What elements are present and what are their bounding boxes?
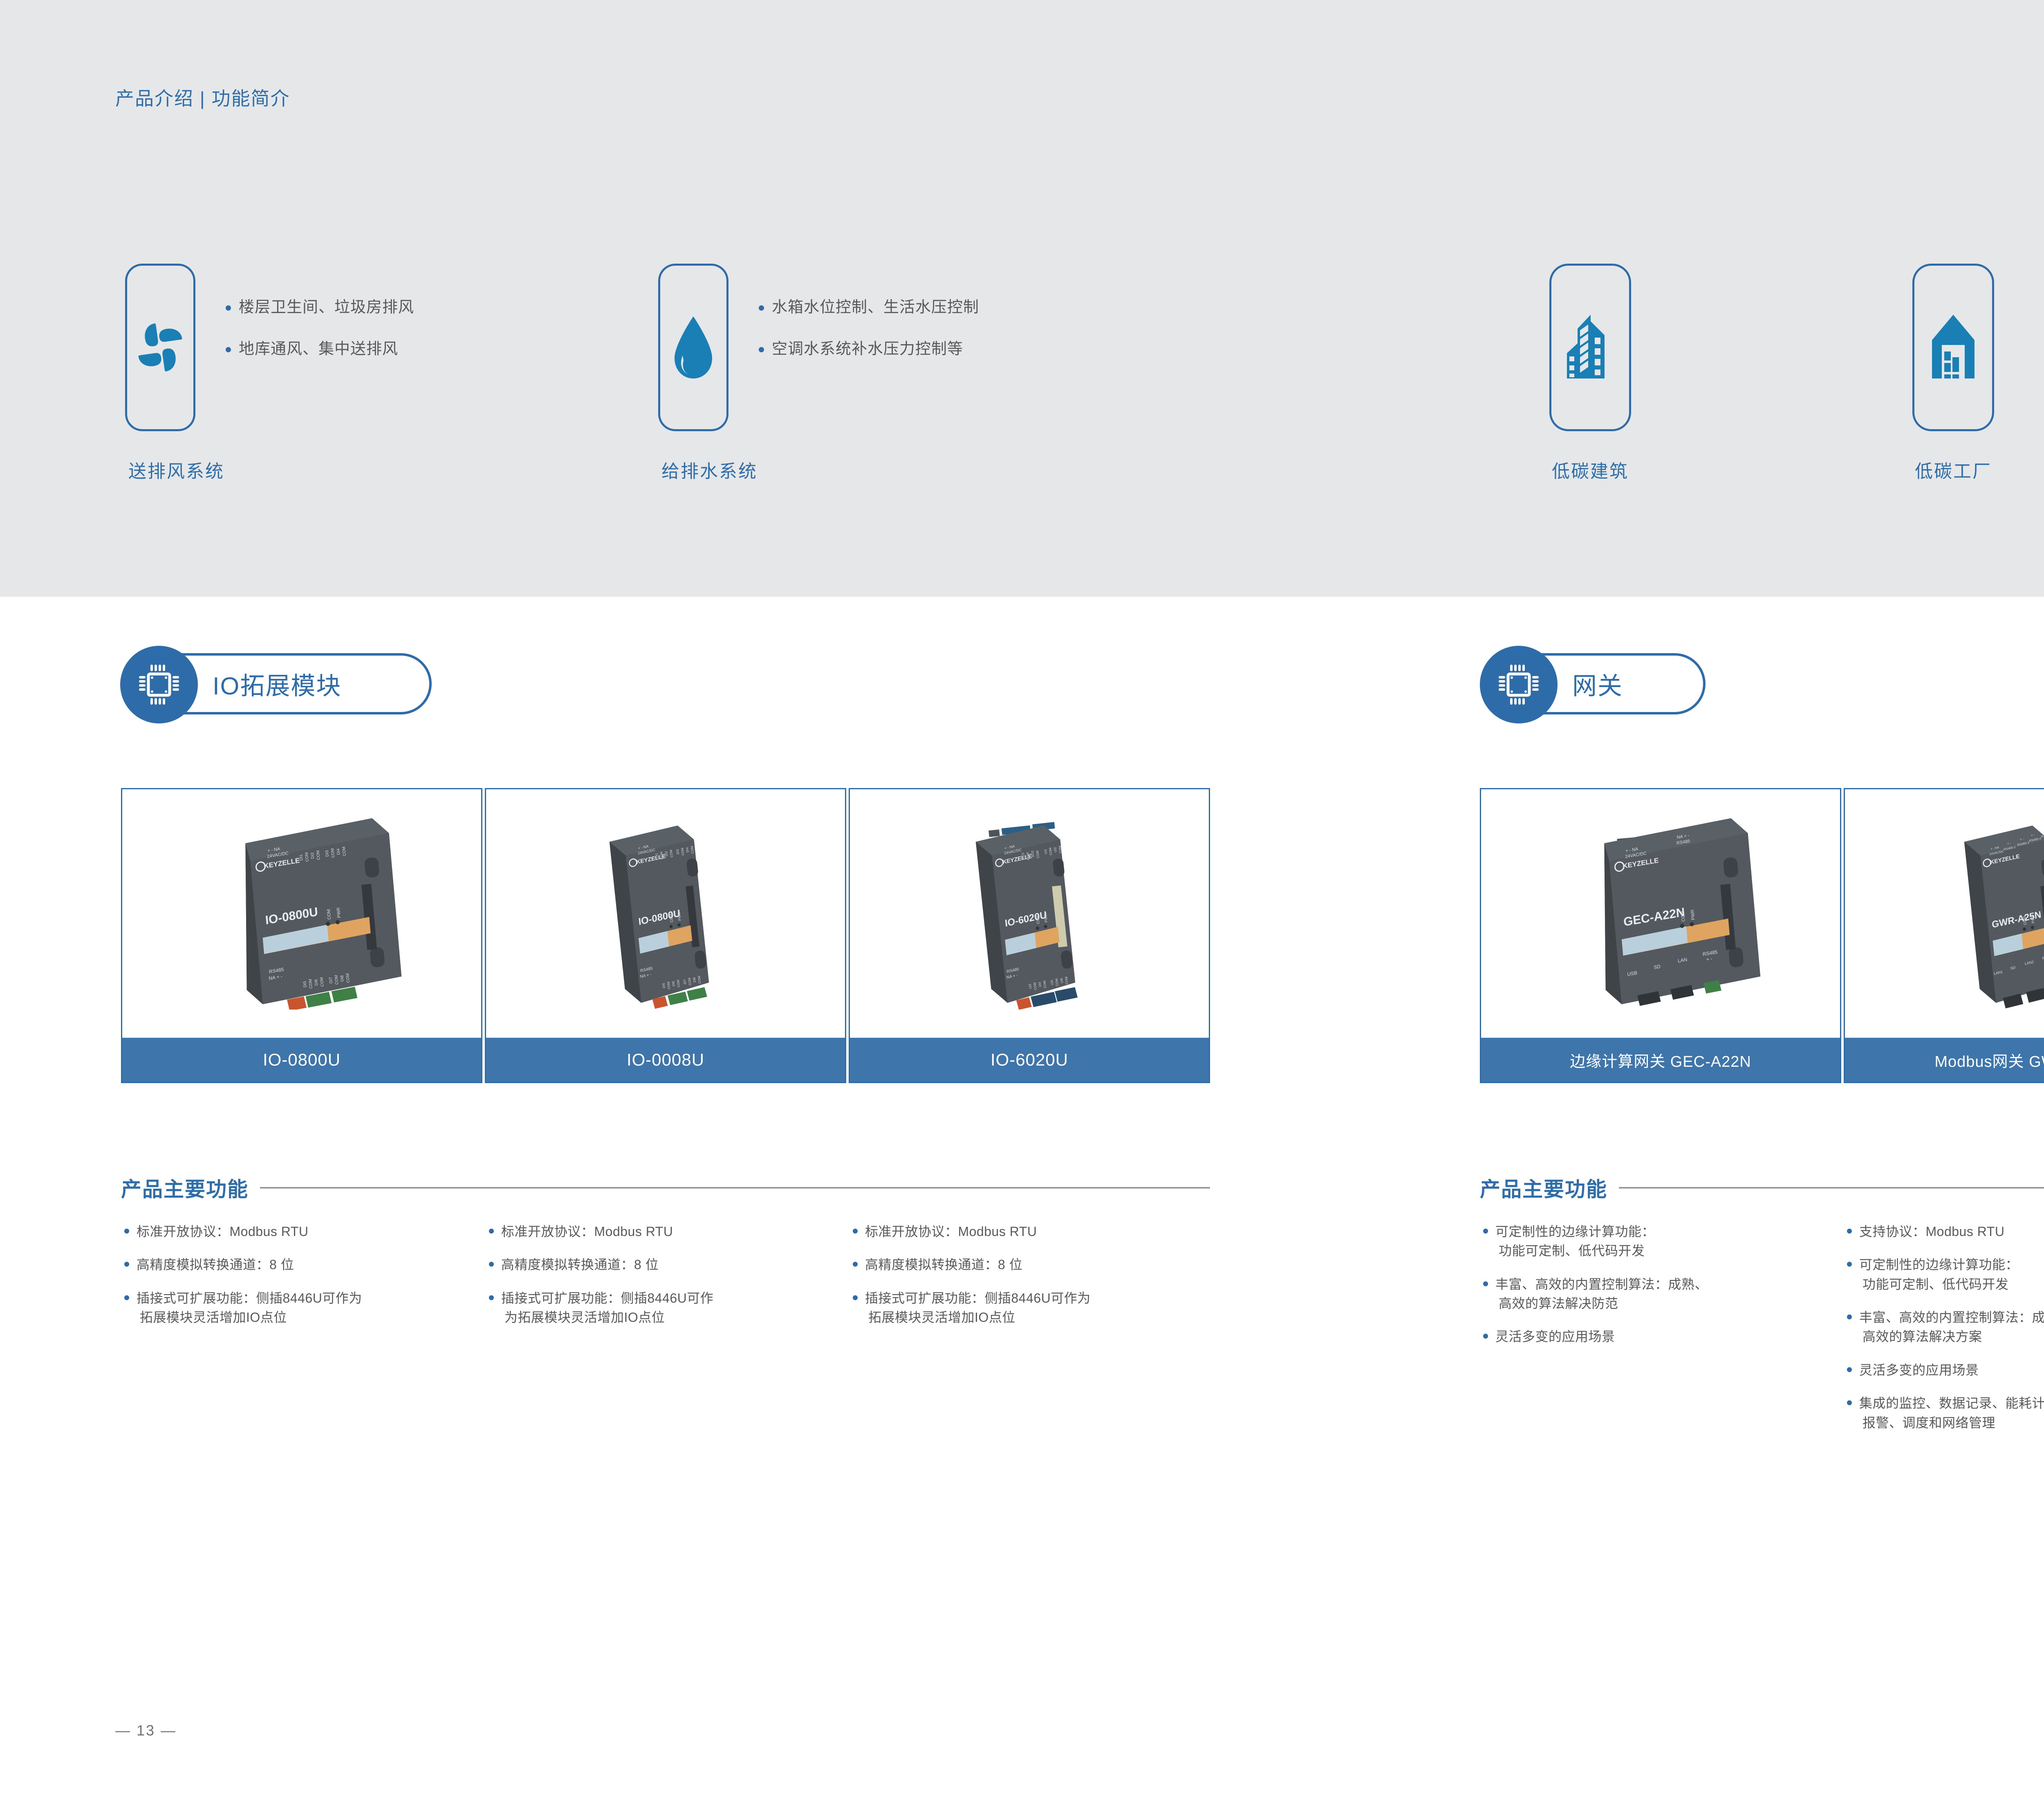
svg-text:+ -: + - — [1706, 956, 1712, 962]
list-item: 插接式可扩展功能：侧插8446U可作为拓展模块灵活增加IO点位 — [851, 1289, 1211, 1328]
list-item: 空调水系统补水压力控制等 — [756, 341, 979, 357]
list-item: 高精度模拟转换通道：8 位 — [123, 1255, 482, 1274]
product-caption: IO-0800U — [122, 1038, 481, 1082]
scenario-water-label: 给排水系统 — [661, 457, 758, 483]
scenario-ventilation-label: 送排风系统 — [128, 457, 224, 483]
factory-icon-tile — [1912, 264, 1994, 431]
svg-text:UI5: UI5 — [1050, 979, 1054, 985]
svg-text:COM: COM — [308, 979, 314, 989]
svg-text:DI2: DI2 — [310, 852, 315, 859]
svg-text:SD: SD — [1654, 963, 1661, 970]
features-heading-io: 产品主要功能 — [121, 1173, 1210, 1202]
list-item: 可定制性的边缘计算功能：功能可定制、低代码开发 — [1845, 1255, 2044, 1294]
product-image: IO-0800U KEYZELLE + - NA 24VAC/DC DI1 CO… — [486, 789, 845, 1038]
lowcarbon-building: 低碳建筑 — [1549, 264, 1631, 483]
product-caption: 边缘计算网关 GEC-A22N — [1481, 1038, 1840, 1082]
product-image: IO-6020U KEYZELLE + - NA 24VAC/DC AO1 CO… — [850, 789, 1209, 1038]
office-building-icon — [1565, 314, 1615, 381]
svg-text:AO2: AO2 — [1031, 850, 1035, 857]
features-title-gateway: 产品主要功能 — [1480, 1173, 1607, 1202]
lowcarbon-factory-label: 低碳工厂 — [1912, 457, 1994, 483]
fan-icon-tile — [125, 264, 195, 431]
feature-column: 可定制性的边缘计算功能：功能可定制、低代码开发 丰富、高效的内置控制算法：成熟、… — [1481, 1222, 1829, 1361]
product-image: GWR-A25N KEYZELLE + - NA + - + - + - + -… — [1845, 789, 2044, 1038]
section-header-io: IO拓展模块 — [120, 646, 459, 723]
svg-text:DI7: DI7 — [329, 977, 334, 984]
scenario-water: 水箱水位控制、生活水压控制 空调水系统补水压力控制等 给排水系统 — [658, 264, 1230, 493]
product-image: GEC-A22N KEYZELLE + - NA 24VAC/DC NA + -… — [1481, 789, 1840, 1038]
section-header-gateway: 网关 — [1480, 646, 1733, 723]
svg-text:AO1: AO1 — [1021, 852, 1025, 859]
list-item: 丰富、高效的内置控制算法：成熟、高效的算法解决方案 — [1845, 1308, 2044, 1347]
svg-text:COM: COM — [345, 973, 351, 983]
list-item: 可定制性的边缘计算功能：功能可定制、低代码开发 — [1481, 1222, 1829, 1261]
svg-text:COM: COM — [1058, 846, 1062, 854]
svg-text:DI1: DI1 — [299, 854, 304, 861]
features-heading-gateway: 产品主要功能 — [1480, 1173, 2044, 1202]
svg-text:COM: COM — [342, 846, 347, 856]
svg-text:DI5: DI5 — [662, 983, 666, 988]
list-item: 灵活多变的应用场景 — [1481, 1327, 1829, 1346]
svg-text:UI1: UI1 — [1044, 849, 1048, 854]
svg-text:DI8: DI8 — [693, 977, 697, 983]
product-card[interactable]: GEC-A22N KEYZELLE + - NA 24VAC/DC NA + -… — [1480, 788, 1841, 1083]
list-item: 地库通风、集中送排风 — [223, 341, 414, 357]
water-drop-icon — [670, 315, 716, 380]
product-caption: IO-0008U — [486, 1038, 845, 1082]
section-title-gateway: 网关 — [1572, 666, 1623, 702]
factory-icon — [1930, 314, 1977, 381]
list-item: 标准开放协议：Modbus RTU — [851, 1222, 1211, 1241]
list-item: 标准开放协议：Modbus RTU — [487, 1222, 847, 1241]
product-image: IO-0800U KEYZELLE + - NA 24VAC/DC DI1 CO… — [122, 789, 481, 1038]
scenario-water-bullets: 水箱水位控制、生活水压控制 空调水系统补水压力控制等 — [756, 300, 979, 383]
features-title-io: 产品主要功能 — [121, 1173, 249, 1202]
svg-text:DI3: DI3 — [325, 850, 330, 857]
list-item: 标准开放协议：Modbus RTU — [123, 1222, 482, 1241]
svg-text:COM: COM — [334, 975, 339, 985]
page-number-left: — 13 — — [115, 1722, 177, 1739]
list-item: 灵活多变的应用场景 — [1845, 1361, 2044, 1380]
svg-text:COM: COM — [1681, 911, 1686, 922]
svg-text:COM: COM — [326, 909, 332, 920]
brochure-page: 产品介绍 | 功能简介 产品介绍 | 功能简介 — [0, 0, 2044, 1798]
feature-column: 标准开放协议：Modbus RTU 高精度模拟转换通道：8 位 插接式可扩展功能… — [487, 1222, 847, 1341]
svg-text:DI2: DI2 — [664, 851, 668, 857]
product-caption: IO-6020U — [850, 1038, 1209, 1082]
section-title-io: IO拓展模块 — [213, 666, 341, 702]
svg-text:PWR: PWR — [336, 907, 342, 918]
svg-text:COM: COM — [320, 977, 325, 987]
svg-text:UI3: UI3 — [1028, 983, 1032, 989]
list-item: 插接式可扩展功能：侧插8446U可作为拓展模块灵活增加IO点位 — [123, 1289, 482, 1328]
list-item: 丰富、高效的内置控制算法：成熟、高效的算法解决防范 — [1481, 1275, 1829, 1314]
product-card[interactable]: IO-6020U KEYZELLE + - NA 24VAC/DC AO1 CO… — [849, 788, 1210, 1083]
fan-icon — [135, 320, 186, 374]
scenario-ventilation: 楼层卫生间、垃圾房排风 地库通风、集中送排风 送排风系统 — [125, 264, 616, 493]
list-item: 插接式可扩展功能：侧插8446U可作为拓展模块灵活增加IO点位 — [487, 1289, 847, 1328]
svg-text:DI6: DI6 — [671, 981, 675, 987]
svg-text:DI5: DI5 — [303, 981, 307, 987]
product-caption: Modbus网关 GWR-A25N — [1845, 1038, 2044, 1082]
svg-text:UI4: UI4 — [1038, 982, 1042, 987]
chip-icon — [1480, 646, 1558, 723]
product-card[interactable]: IO-0800U KEYZELLE + - NA 24VAC/DC DI1 CO… — [121, 788, 482, 1083]
top-scenario-band: 产品介绍 | 功能简介 产品介绍 | 功能简介 — [0, 0, 2044, 597]
svg-text:DI4: DI4 — [685, 847, 689, 853]
list-item: 楼层卫生间、垃圾房排风 — [223, 300, 414, 315]
list-item: 水箱水位控制、生活水压控制 — [756, 300, 979, 315]
list-item: 支持协议：Modbus RTU — [1845, 1222, 2044, 1241]
water-drop-icon-tile — [658, 264, 728, 431]
list-item: 高精度模拟转换通道：8 位 — [851, 1255, 1211, 1274]
svg-text:DI6: DI6 — [314, 979, 319, 986]
feature-column: 标准开放协议：Modbus RTU 高精度模拟转换通道：8 位 插接式可扩展功能… — [123, 1222, 482, 1341]
svg-text:DI1: DI1 — [654, 853, 659, 858]
svg-text:DI4: DI4 — [336, 848, 341, 855]
divider-line — [1619, 1187, 2044, 1189]
svg-text:COM: COM — [305, 852, 310, 862]
feature-column: 支持协议：Modbus RTU 可定制性的边缘计算功能：功能可定制、低代码开发 … — [1845, 1222, 2044, 1446]
scenario-ventilation-bullets: 楼层卫生间、垃圾房排风 地库通风、集中送排风 — [223, 300, 414, 383]
svg-text:DI3: DI3 — [676, 849, 680, 855]
product-card[interactable]: IO-0800U KEYZELLE + - NA 24VAC/DC DI1 CO… — [485, 788, 846, 1083]
feature-column: 标准开放协议：Modbus RTU 高精度模拟转换通道：8 位 插接式可扩展功能… — [851, 1222, 1211, 1341]
list-item: 集成的监控、数据记录、能耗计量、报警、调度和网络管理 — [1845, 1394, 2044, 1433]
divider-line — [260, 1187, 1210, 1189]
product-card[interactable]: GWR-A25N KEYZELLE + - NA + - + - + - + -… — [1844, 788, 2044, 1083]
svg-text:COM: COM — [316, 850, 321, 860]
svg-text:UI2: UI2 — [1053, 847, 1057, 853]
svg-text:PWR: PWR — [1690, 909, 1696, 920]
office-building-icon-tile — [1549, 264, 1631, 431]
chip-icon — [120, 646, 198, 723]
lowcarbon-factory: 低碳工厂 — [1912, 264, 1994, 483]
svg-text:UI6: UI6 — [1060, 978, 1064, 983]
svg-text:+ -: + - — [2041, 829, 2044, 833]
lowcarbon-building-label: 低碳建筑 — [1549, 457, 1631, 483]
svg-text:COM: COM — [330, 848, 336, 858]
svg-text:DI8: DI8 — [340, 975, 345, 982]
header-left-title: 产品介绍 | 功能简介 — [115, 84, 290, 111]
svg-text:DI7: DI7 — [683, 979, 687, 985]
list-item: 高精度模拟转换通道：8 位 — [487, 1255, 847, 1274]
